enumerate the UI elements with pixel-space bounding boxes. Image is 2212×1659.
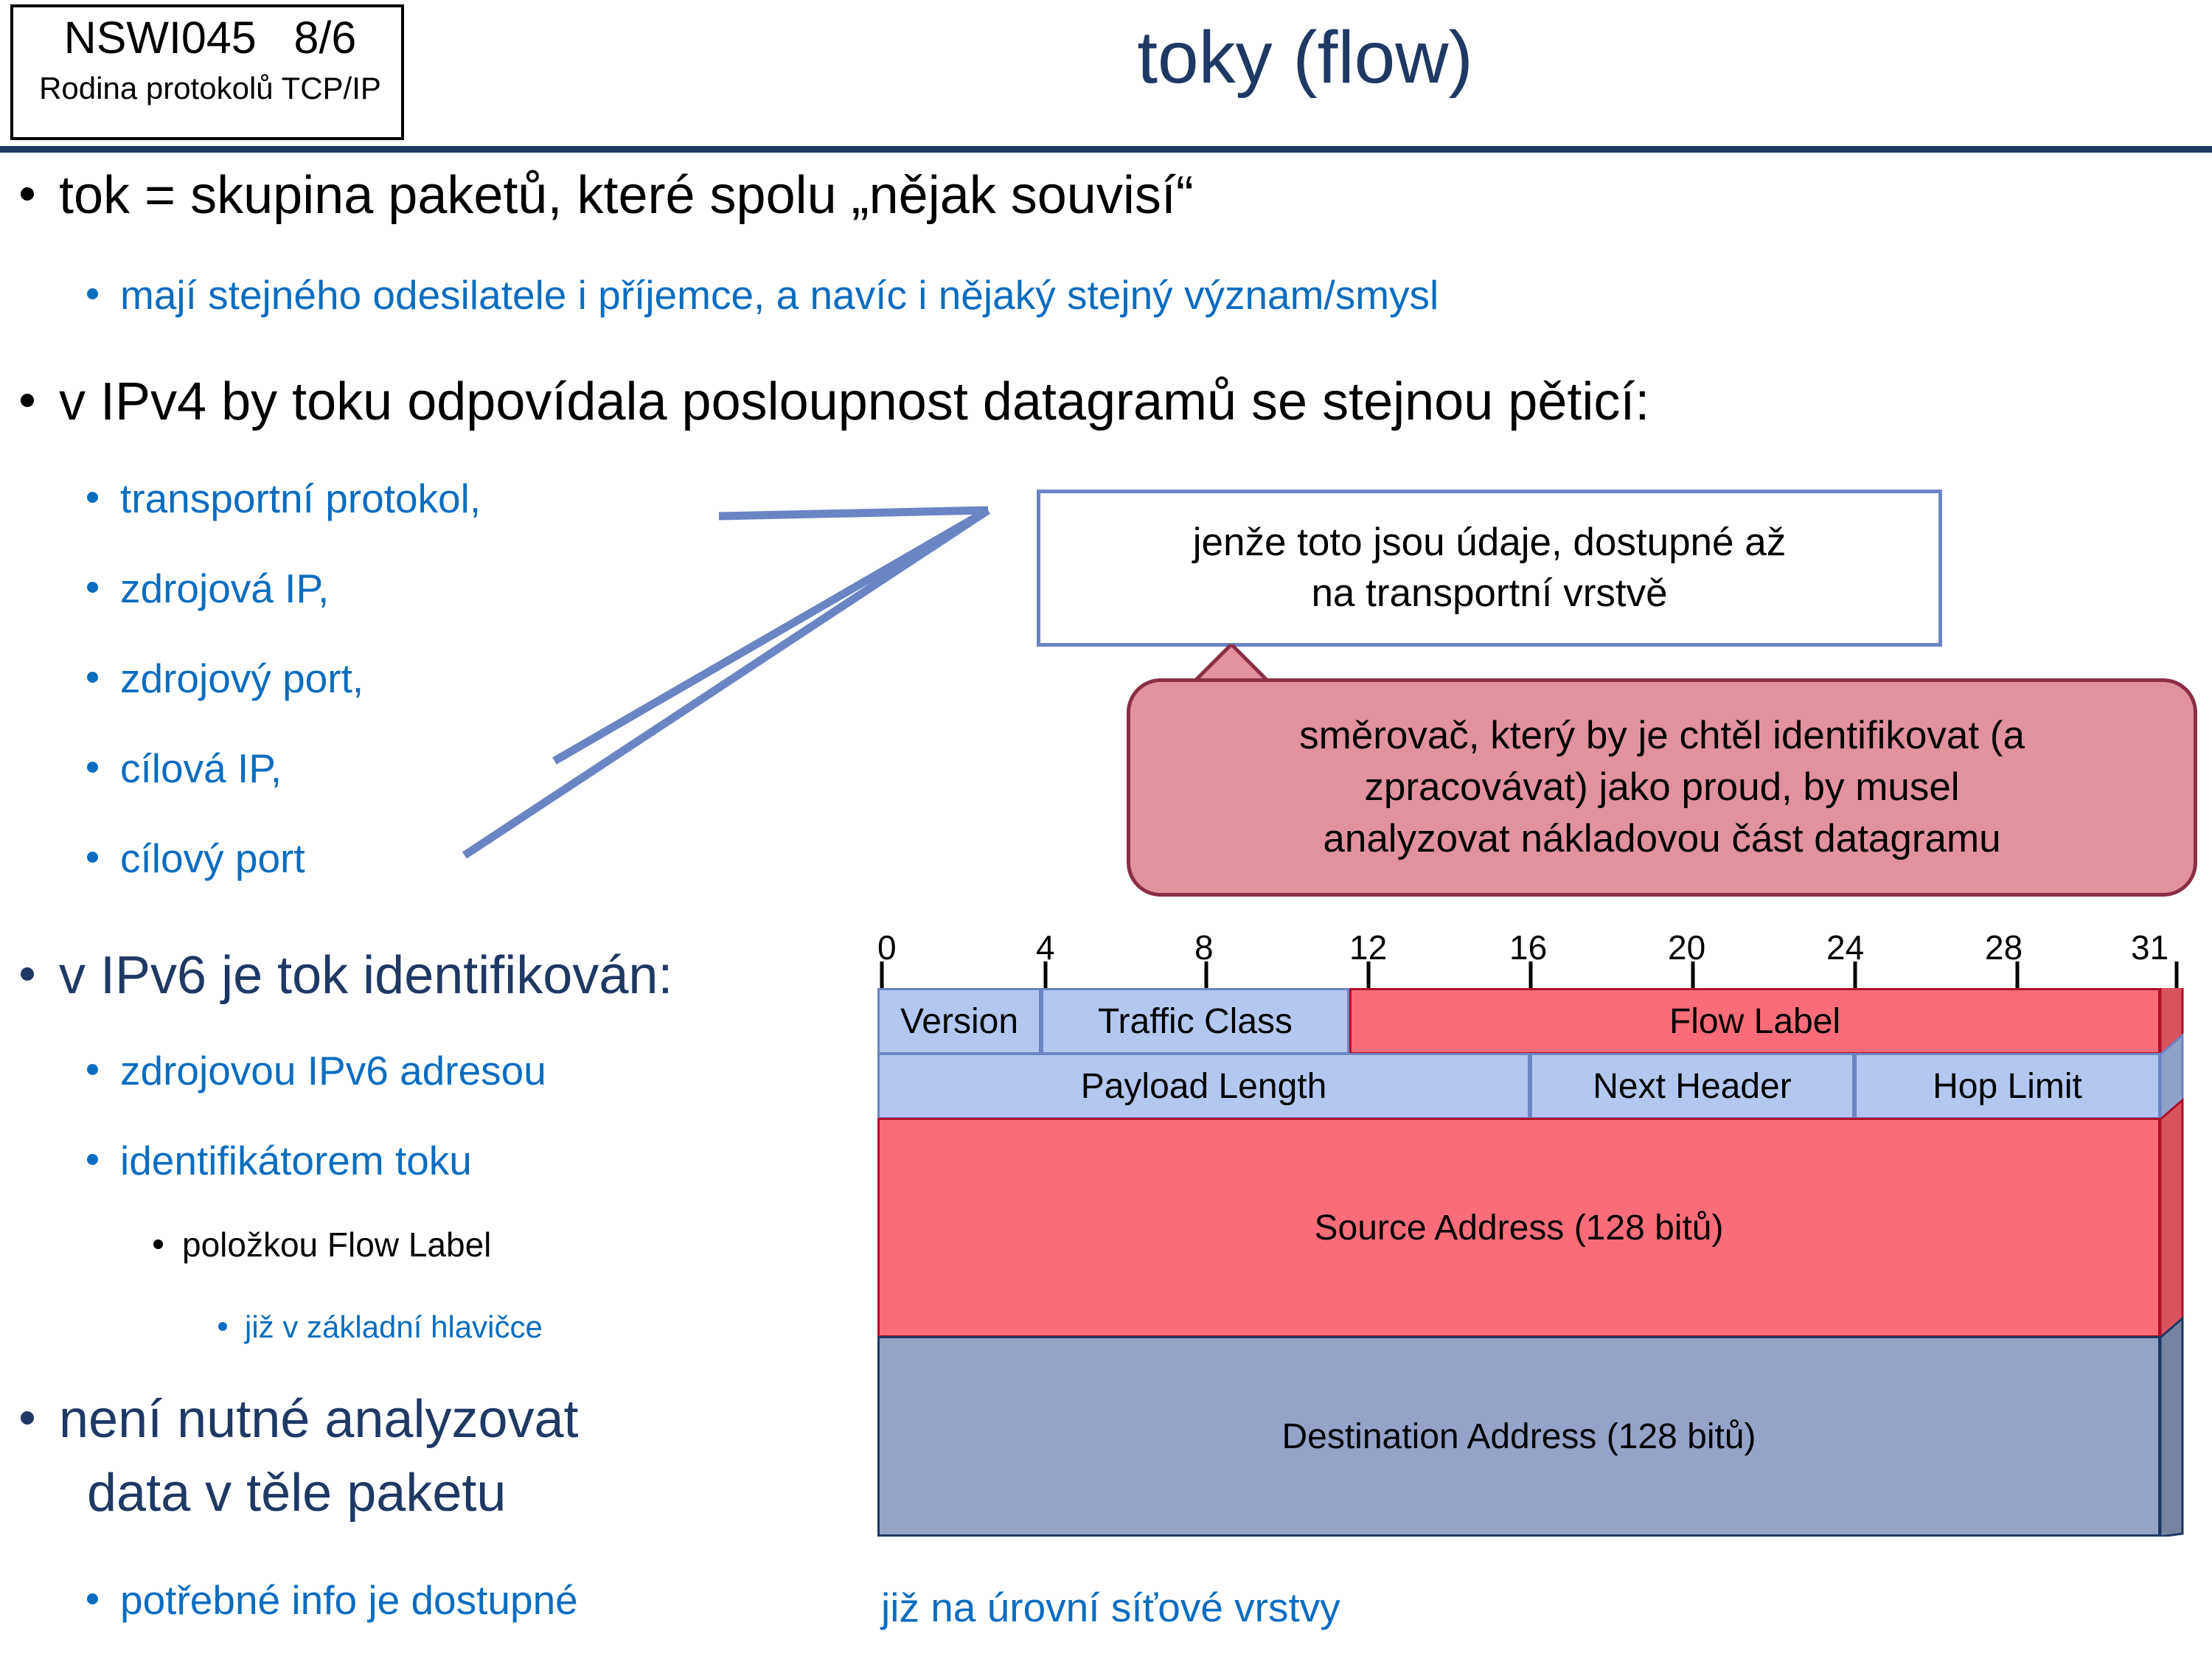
- callout-router-payload: směrovač, který by je chtěl identifikova…: [1127, 678, 2197, 897]
- bullet-text: zdrojový port,: [120, 655, 364, 701]
- bullet-dot-icon: [218, 1322, 227, 1331]
- bullet-level2-transport-protocol: transportní protokol,: [87, 478, 481, 521]
- connector-line-3: [465, 510, 988, 855]
- bullet-text: zdrojová IP,: [120, 566, 329, 611]
- bullet-text: data v těle paketu: [87, 1464, 506, 1523]
- bullet-text: identifikátorem toku: [120, 1138, 472, 1183]
- pink-callout-line-2: zpracovávat) jako proud, by musel: [1364, 762, 1959, 813]
- pink-callout-line-1: směrovač, který by je chtěl identifikova…: [1299, 710, 2025, 762]
- bullet-level4-in-base-header: již v základní hlavičce: [218, 1311, 543, 1343]
- field-next-header: Next Header: [1530, 1053, 1854, 1119]
- bullet-text: transportní protokol,: [120, 476, 481, 521]
- bullet-dot-icon: [87, 492, 98, 503]
- field-flow-label: Flow Label: [1349, 988, 2160, 1054]
- bullet-text: není nutné analyzovat: [59, 1390, 579, 1449]
- bullet-level2-source-port: zdrojový port,: [87, 658, 364, 700]
- bullet-level2-source-ipv6-address: zdrojovou IPv6 adresou: [87, 1050, 546, 1093]
- bullet-dot-icon: [21, 1411, 34, 1425]
- course-badge: NSWI045 8/6 Rodina protokolů TCP/IP: [10, 4, 404, 140]
- bullet-text: zdrojovou IPv6 adresou: [120, 1048, 546, 1093]
- bullet-level1-no-analysis-line2: data v těle paketu: [87, 1466, 506, 1522]
- bullet-dot-icon: [21, 967, 34, 981]
- field-version: Version: [877, 988, 1041, 1054]
- bullet-dot-icon: [87, 672, 98, 683]
- bottom-note-network-layer: již na úrovní síťové vrstvy: [881, 1584, 1340, 1631]
- bullet-dot-icon: [87, 1593, 98, 1604]
- slide-header: NSWI045 8/6 Rodina protokolů TCP/IP toky…: [0, 0, 2212, 151]
- page-title: toky (flow): [413, 13, 2197, 102]
- callout-transport-layer: jenže toto jsou údaje, dostupné až na tr…: [1037, 490, 1942, 647]
- bullet-level3-flow-label-field: položkou Flow Label: [153, 1227, 491, 1262]
- connector-line-1: [719, 510, 988, 516]
- bullet-dot-icon: [87, 288, 98, 299]
- bullet-level1-tok: tok = skupina paketů, které spolu „nějak…: [21, 168, 1194, 224]
- course-code: NSWI045 8/6: [13, 12, 407, 63]
- callout-line-1: jenže toto jsou údaje, dostupné až: [1193, 518, 1786, 568]
- bullet-text: mají stejného odesilatele i příjemce, a …: [120, 272, 1439, 318]
- slide-canvas: NSWI045 8/6 Rodina protokolů TCP/IP toky…: [0, 0, 2212, 1659]
- field-hop-limit: Hop Limit: [1854, 1053, 2160, 1119]
- bullet-dot-icon: [21, 187, 34, 201]
- bullet-level2-flow-identifier: identifikátorem toku: [87, 1140, 472, 1183]
- callout-line-2: na transportní vrstvě: [1311, 568, 1667, 619]
- bullet-dot-icon: [87, 852, 98, 863]
- bullet-level2-info-available: potřebné info je dostupné: [87, 1579, 578, 1622]
- bullet-level1-ipv4: v IPv4 by toku odpovídala posloupnost da…: [21, 375, 1649, 431]
- bullet-level2-source-ip: zdrojová IP,: [87, 568, 329, 611]
- bullet-level2-same-endpoints: mají stejného odesilatele i příjemce, a …: [87, 274, 1439, 317]
- field-destination-address: Destination Address (128 bitů): [877, 1336, 2160, 1537]
- bullet-text: tok = skupina paketů, které spolu „nějak…: [59, 166, 1194, 225]
- pink-callout-line-3: analyzovat nákladovou část datagramu: [1323, 813, 2000, 865]
- bullet-text: položkou Flow Label: [182, 1225, 491, 1264]
- connector-line-2: [554, 510, 988, 761]
- bit-ruler-ticks: [877, 961, 2205, 990]
- ipv6-field-grid: Version Traffic Class Flow Label Payload…: [877, 988, 2205, 1537]
- bullet-dot-icon: [87, 582, 98, 593]
- bullet-level2-dest-port: cílový port: [87, 838, 305, 880]
- field-payload-length: Payload Length: [877, 1053, 1530, 1119]
- field-traffic-class: Traffic Class: [1041, 988, 1349, 1054]
- bullet-text: cílová IP,: [120, 745, 282, 791]
- bullet-level1-ipv6: v IPv6 je tok identifikován:: [21, 948, 672, 1004]
- header-divider: [0, 146, 2212, 153]
- bullet-level1-no-analysis-line1: není nutné analyzovat: [21, 1392, 579, 1448]
- course-name: Rodina protokolů TCP/IP: [13, 71, 407, 106]
- ipv6-header-diagram: 0 4 8 12 16 20 24 28 31: [877, 928, 2205, 1540]
- bullet-dot-icon: [87, 1154, 98, 1165]
- bullet-dot-icon: [87, 762, 98, 773]
- bullet-text: již v základní hlavičce: [245, 1310, 543, 1344]
- bullet-dot-icon: [87, 1064, 98, 1075]
- bullet-text: potřebné info je dostupné: [120, 1577, 578, 1623]
- bullet-dot-icon: [21, 394, 34, 407]
- bullet-text: v IPv4 by toku odpovídala posloupnost da…: [59, 372, 1649, 431]
- bullet-text: cílový port: [120, 835, 305, 881]
- bullet-text: v IPv6 je tok identifikován:: [59, 946, 672, 1005]
- bullet-dot-icon: [153, 1239, 163, 1249]
- bullet-level2-dest-ip: cílová IP,: [87, 748, 282, 790]
- field-source-address: Source Address (128 bitů): [877, 1118, 2160, 1338]
